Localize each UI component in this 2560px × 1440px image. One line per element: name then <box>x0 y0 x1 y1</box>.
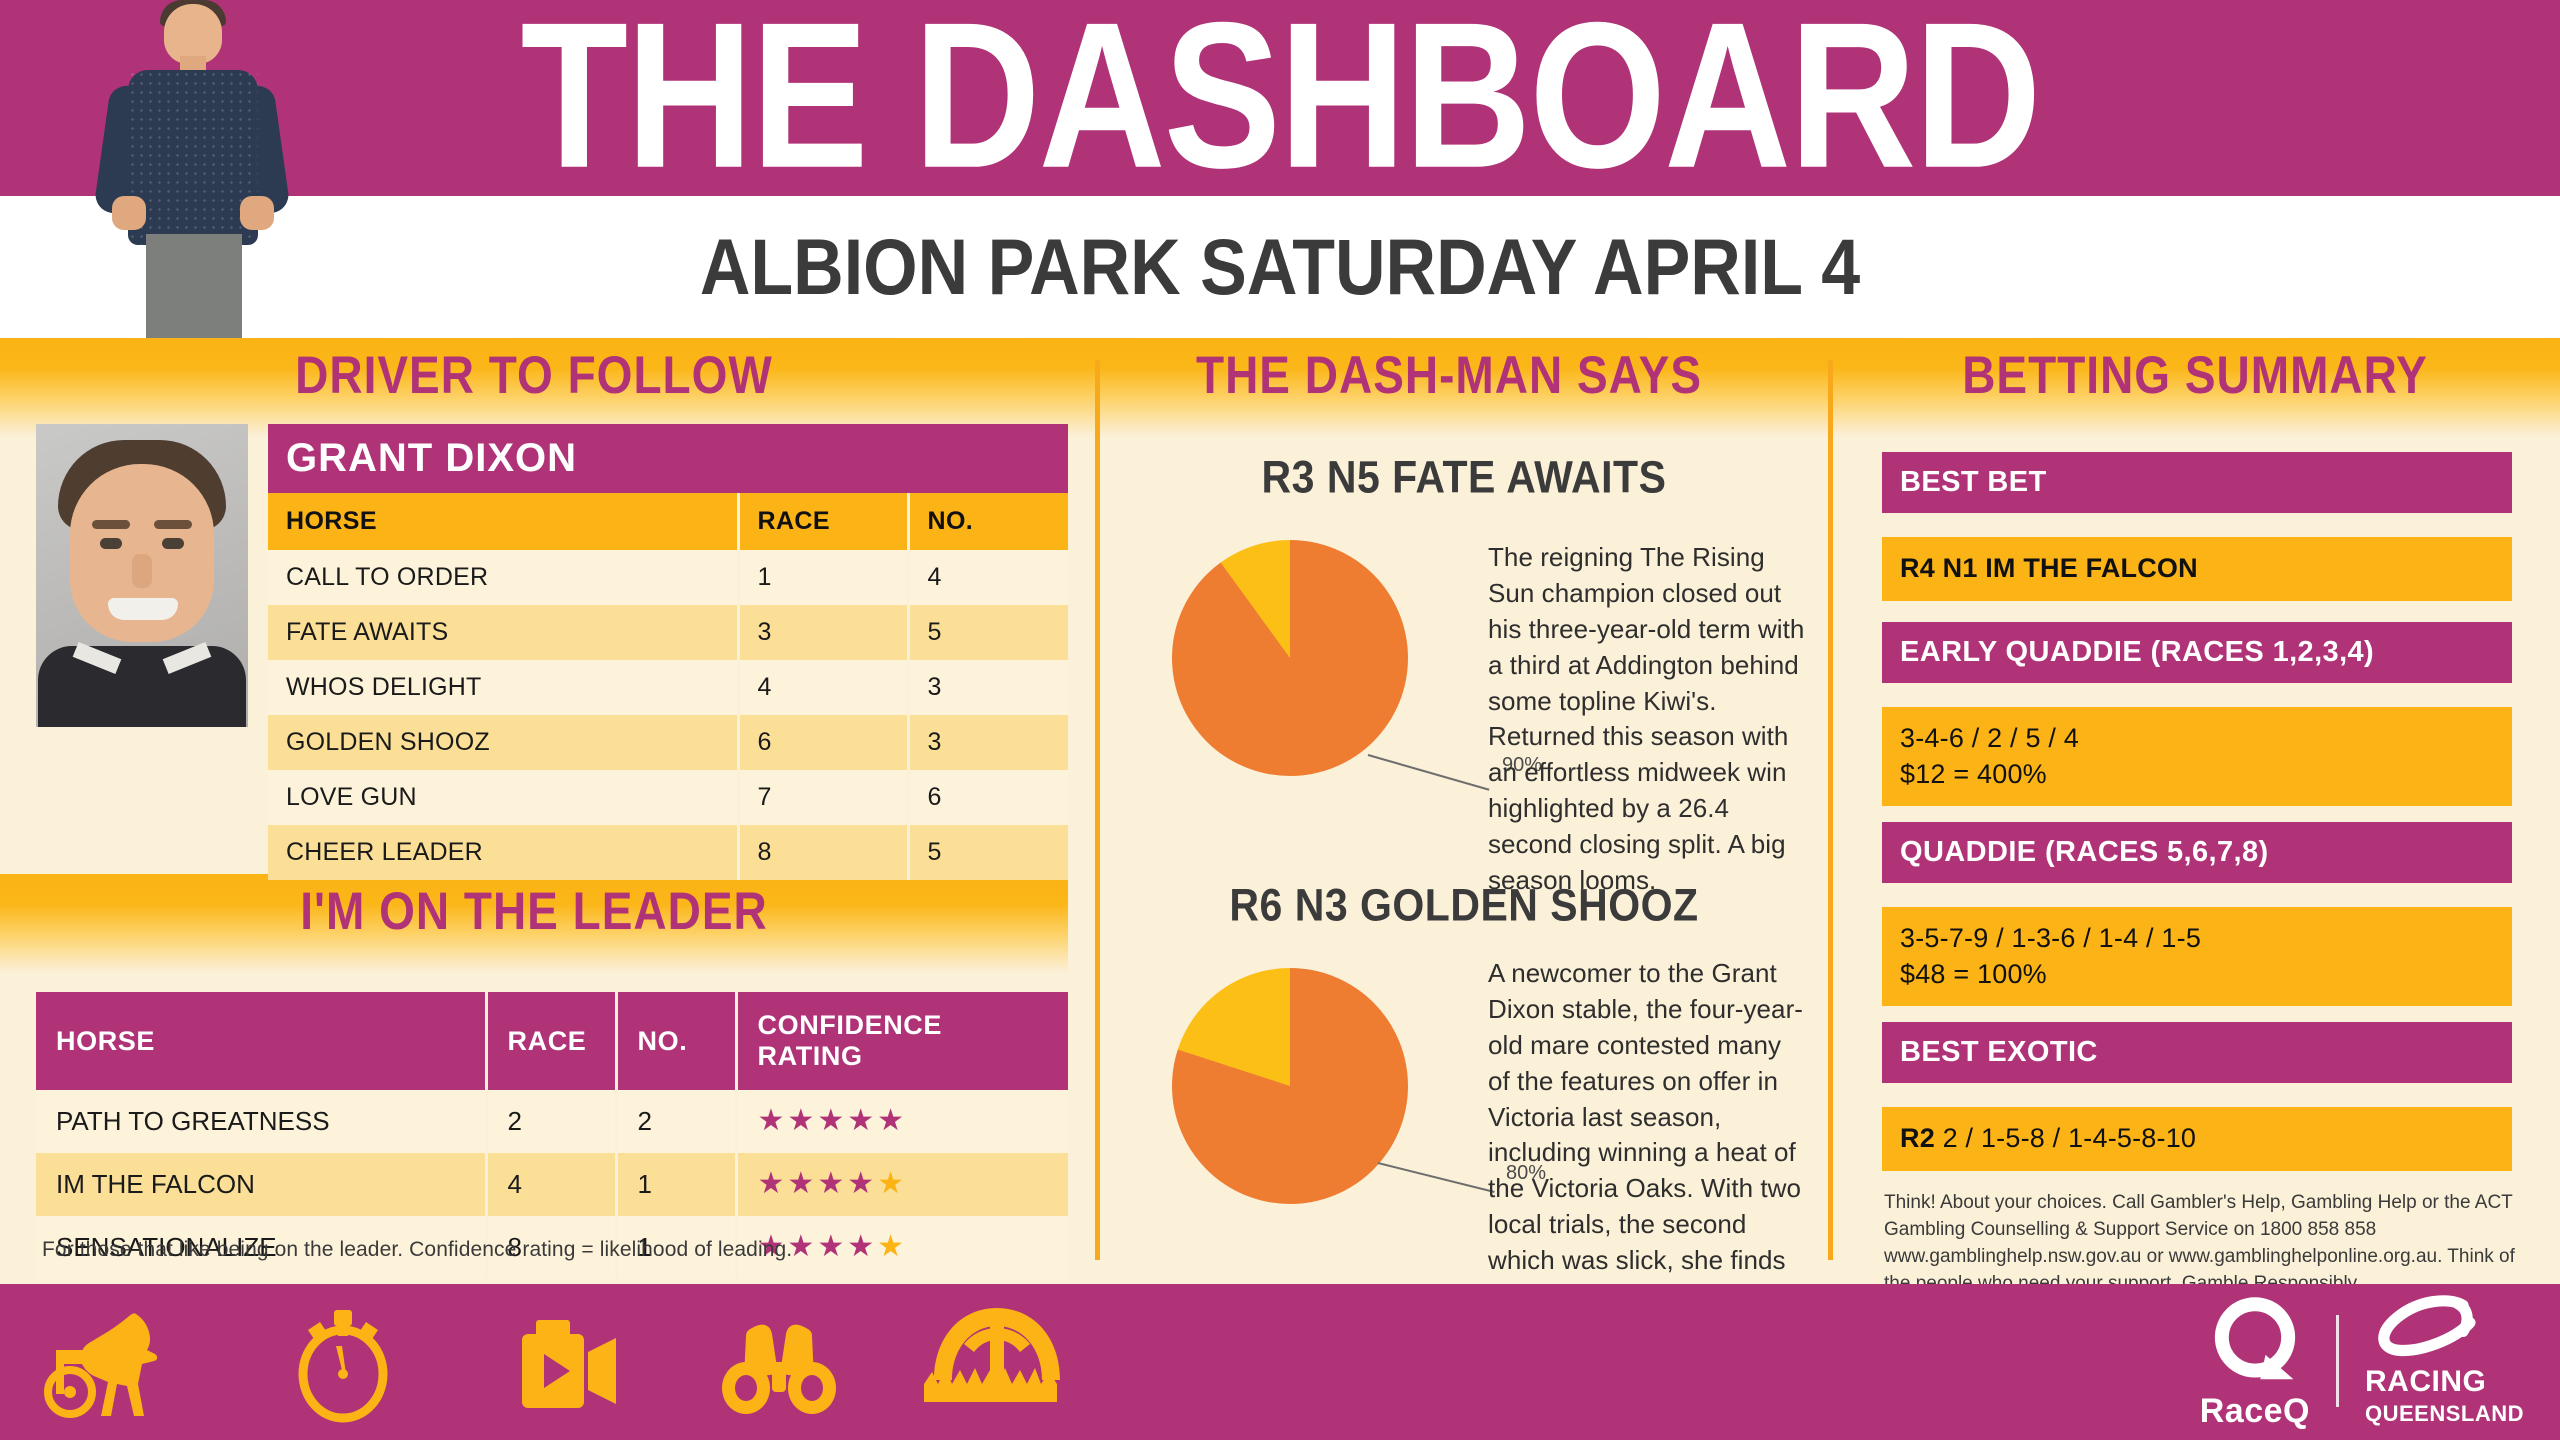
presenter-hand-left <box>112 196 146 230</box>
dashboard-page: THE DASHBOARD ALBION PARK SATURDAY APRIL… <box>0 0 2560 1440</box>
section-title-driver: DRIVER TO FOLLOW <box>0 344 1068 406</box>
gambling-disclaimer: Think! About your choices. Call Gambler'… <box>1884 1190 2524 1298</box>
raceq-mark-icon <box>2201 1292 2309 1388</box>
early-quaddie-line1: 3-4-6 / 2 / 5 / 4 <box>1900 721 2494 757</box>
harness-racing-icon[interactable] <box>40 1300 210 1426</box>
table-row: PATH TO GREATNESS 2 2 ★★★★★ <box>36 1090 1068 1153</box>
driver-col-race: RACE <box>738 493 908 550</box>
section-title-leader: I'M ON THE LEADER <box>0 880 1068 942</box>
queensland-logo-text: QUEENSLAND <box>2365 1401 2524 1427</box>
quaddie-value: 3-5-7-9 / 1-3-6 / 1-4 / 1-5 $48 = 100% <box>1882 907 2512 1006</box>
presenter-photo <box>68 0 308 338</box>
driver-race: 3 <box>738 605 908 660</box>
driver-horse: FATE AWAITS <box>268 605 738 660</box>
presenter-hand-right <box>240 196 274 230</box>
driver-shirt <box>38 646 246 727</box>
driver-no: 5 <box>908 825 1068 880</box>
binoculars-icon[interactable] <box>694 1300 864 1426</box>
video-camera-icon[interactable] <box>476 1300 646 1426</box>
racing-logo-text: RACING <box>2365 1365 2486 1399</box>
early-quaddie-line2: $12 = 400% <box>1900 757 2494 793</box>
pie-chart-2: 80% <box>1172 968 1408 1204</box>
dashman-body-1: The reigning The Rising Sun champion clo… <box>1488 540 1808 899</box>
section-band-betting: BETTING SUMMARY <box>1830 338 2560 436</box>
driver-nose <box>132 554 152 588</box>
leader-footnote: For those that like being on the leader.… <box>42 1238 1052 1262</box>
driver-no: 3 <box>908 660 1068 715</box>
driver-horse: CHEER LEADER <box>268 825 738 880</box>
pie-chart-1: 90% <box>1172 540 1408 776</box>
table-row: IM THE FALCON 4 1 ★★★★★ <box>36 1153 1068 1216</box>
quaddie-line2: $48 = 100% <box>1900 957 2494 993</box>
leader-col-confidence: CONFIDENCE RATING <box>736 992 1068 1090</box>
pie-leader-line-1 <box>1368 754 1490 791</box>
presenter-legs <box>146 234 242 338</box>
driver-horse: LOVE GUN <box>268 770 738 825</box>
driver-no: 6 <box>908 770 1068 825</box>
leader-horse: PATH TO GREATNESS <box>36 1090 486 1153</box>
grandstand-icon[interactable] <box>912 1300 1082 1426</box>
best-bet-value: R4 N1 IM THE FALCON <box>1882 537 2512 601</box>
driver-name: GRANT DIXON <box>268 424 1068 493</box>
table-row: WHOS DELIGHT 4 3 <box>268 660 1068 715</box>
driver-portrait <box>36 424 248 727</box>
raceq-logo-text: RaceQ <box>2200 1392 2310 1431</box>
driver-race: 1 <box>738 550 908 605</box>
driver-smile <box>108 598 178 620</box>
page-title: THE DASHBOARD <box>0 0 2560 214</box>
dashman-block-2: R6 N3 GOLDEN SHOOZ 80% A newcomer to the… <box>1100 880 1828 1280</box>
driver-no: 4 <box>908 550 1068 605</box>
raceq-logo: RaceQ <box>2200 1292 2310 1431</box>
driver-horse: GOLDEN SHOOZ <box>268 715 738 770</box>
driver-race: 4 <box>738 660 908 715</box>
leader-no: 2 <box>616 1090 736 1153</box>
presenter-head <box>164 4 222 64</box>
racing-queensland-logo: RACING QUEENSLAND <box>2365 1295 2524 1427</box>
leader-race: 4 <box>486 1153 616 1216</box>
section-band-leader: I'M ON THE LEADER <box>0 874 1068 972</box>
driver-no: 3 <box>908 715 1068 770</box>
column-divider-right <box>1828 360 1833 1260</box>
driver-race: 8 <box>738 825 908 880</box>
confidence-stars: ★★★★★ <box>758 1167 908 1200</box>
leader-col-horse: HORSE <box>36 992 486 1090</box>
quaddie-line1: 3-5-7-9 / 1-3-6 / 1-4 / 1-5 <box>1900 921 2494 957</box>
logo-divider <box>2336 1315 2339 1407</box>
section-title-dashman: THE DASH-MAN SAYS <box>1068 344 1830 406</box>
best-bet-header: BEST BET <box>1882 452 2512 513</box>
section-band-dashman: THE DASH-MAN SAYS <box>1068 338 1830 436</box>
table-row: LOVE GUN 7 6 <box>268 770 1068 825</box>
im-on-the-leader-table: HORSE RACE NO. CONFIDENCE RATING PATH TO… <box>36 992 1068 1279</box>
leader-table-header: HORSE RACE NO. CONFIDENCE RATING <box>36 992 1068 1090</box>
table-row: GOLDEN SHOOZ 6 3 <box>268 715 1068 770</box>
early-quaddie-value: 3-4-6 / 2 / 5 / 4 $12 = 400% <box>1882 707 2512 806</box>
footer-logos: RaceQ RACING QUEENSLAND <box>2200 1300 2524 1422</box>
presenter-torso <box>128 70 258 245</box>
table-row: CALL TO ORDER 1 4 <box>268 550 1068 605</box>
best-exotic-header: BEST EXOTIC <box>1882 1022 2512 1083</box>
footer-icon-row <box>40 1300 1220 1426</box>
meeting-subtitle: ALBION PARK SATURDAY APRIL 4 <box>0 187 2560 346</box>
table-row: FATE AWAITS 3 5 <box>268 605 1068 660</box>
driver-horse: CALL TO ORDER <box>268 550 738 605</box>
driver-to-follow-table: GRANT DIXON HORSE RACE NO. CALL TO ORDER… <box>268 424 1068 880</box>
quaddie-header: QUADDIE (RACES 5,6,7,8) <box>1882 822 2512 883</box>
driver-table-header: HORSE RACE NO. <box>268 493 1068 550</box>
early-quaddie-header: EARLY QUADDIE (RACES 1,2,3,4) <box>1882 622 2512 683</box>
leader-race: 2 <box>486 1090 616 1153</box>
racing-queensland-mark-icon <box>2365 1295 2497 1359</box>
pie-leader-line-2 <box>1378 1162 1495 1193</box>
driver-brow-right <box>154 520 192 529</box>
section-band-driver: DRIVER TO FOLLOW <box>0 338 1068 436</box>
best-exotic-value: R2 2 / 1-5-8 / 1-4-5-8-10 <box>1882 1107 2512 1171</box>
pie-slices-1 <box>1172 540 1408 776</box>
table-row: CHEER LEADER 8 5 <box>268 825 1068 880</box>
driver-brow-left <box>92 520 130 529</box>
pie-slices-2 <box>1172 968 1408 1204</box>
leader-horse: IM THE FALCON <box>36 1153 486 1216</box>
dashman-title-2: R6 N3 GOLDEN SHOOZ <box>1100 880 1828 932</box>
best-exotic-prefix: R2 <box>1900 1123 1935 1153</box>
leader-no: 1 <box>616 1153 736 1216</box>
driver-col-horse: HORSE <box>268 493 738 550</box>
driver-eye-left <box>100 538 122 549</box>
leader-col-no: NO. <box>616 992 736 1090</box>
dashman-block-1: R3 N5 FATE AWAITS 90% The reigning The R… <box>1100 452 1828 852</box>
driver-race: 7 <box>738 770 908 825</box>
best-exotic-combo: 2 / 1-5-8 / 1-4-5-8-10 <box>1935 1123 2196 1153</box>
driver-name-row: GRANT DIXON <box>268 424 1068 493</box>
driver-no: 5 <box>908 605 1068 660</box>
status-badge: ★★★★★ <box>736 1153 1068 1216</box>
leader-col-race: RACE <box>486 992 616 1090</box>
driver-horse: WHOS DELIGHT <box>268 660 738 715</box>
status-badge: ★★★★★ <box>736 1090 1068 1153</box>
section-title-betting: BETTING SUMMARY <box>1830 344 2560 406</box>
driver-eye-right <box>162 538 184 549</box>
confidence-stars: ★★★★★ <box>758 1104 908 1137</box>
driver-race: 6 <box>738 715 908 770</box>
driver-col-no: NO. <box>908 493 1068 550</box>
stopwatch-icon[interactable] <box>258 1300 428 1426</box>
dashman-title-1: R3 N5 FATE AWAITS <box>1100 452 1828 504</box>
